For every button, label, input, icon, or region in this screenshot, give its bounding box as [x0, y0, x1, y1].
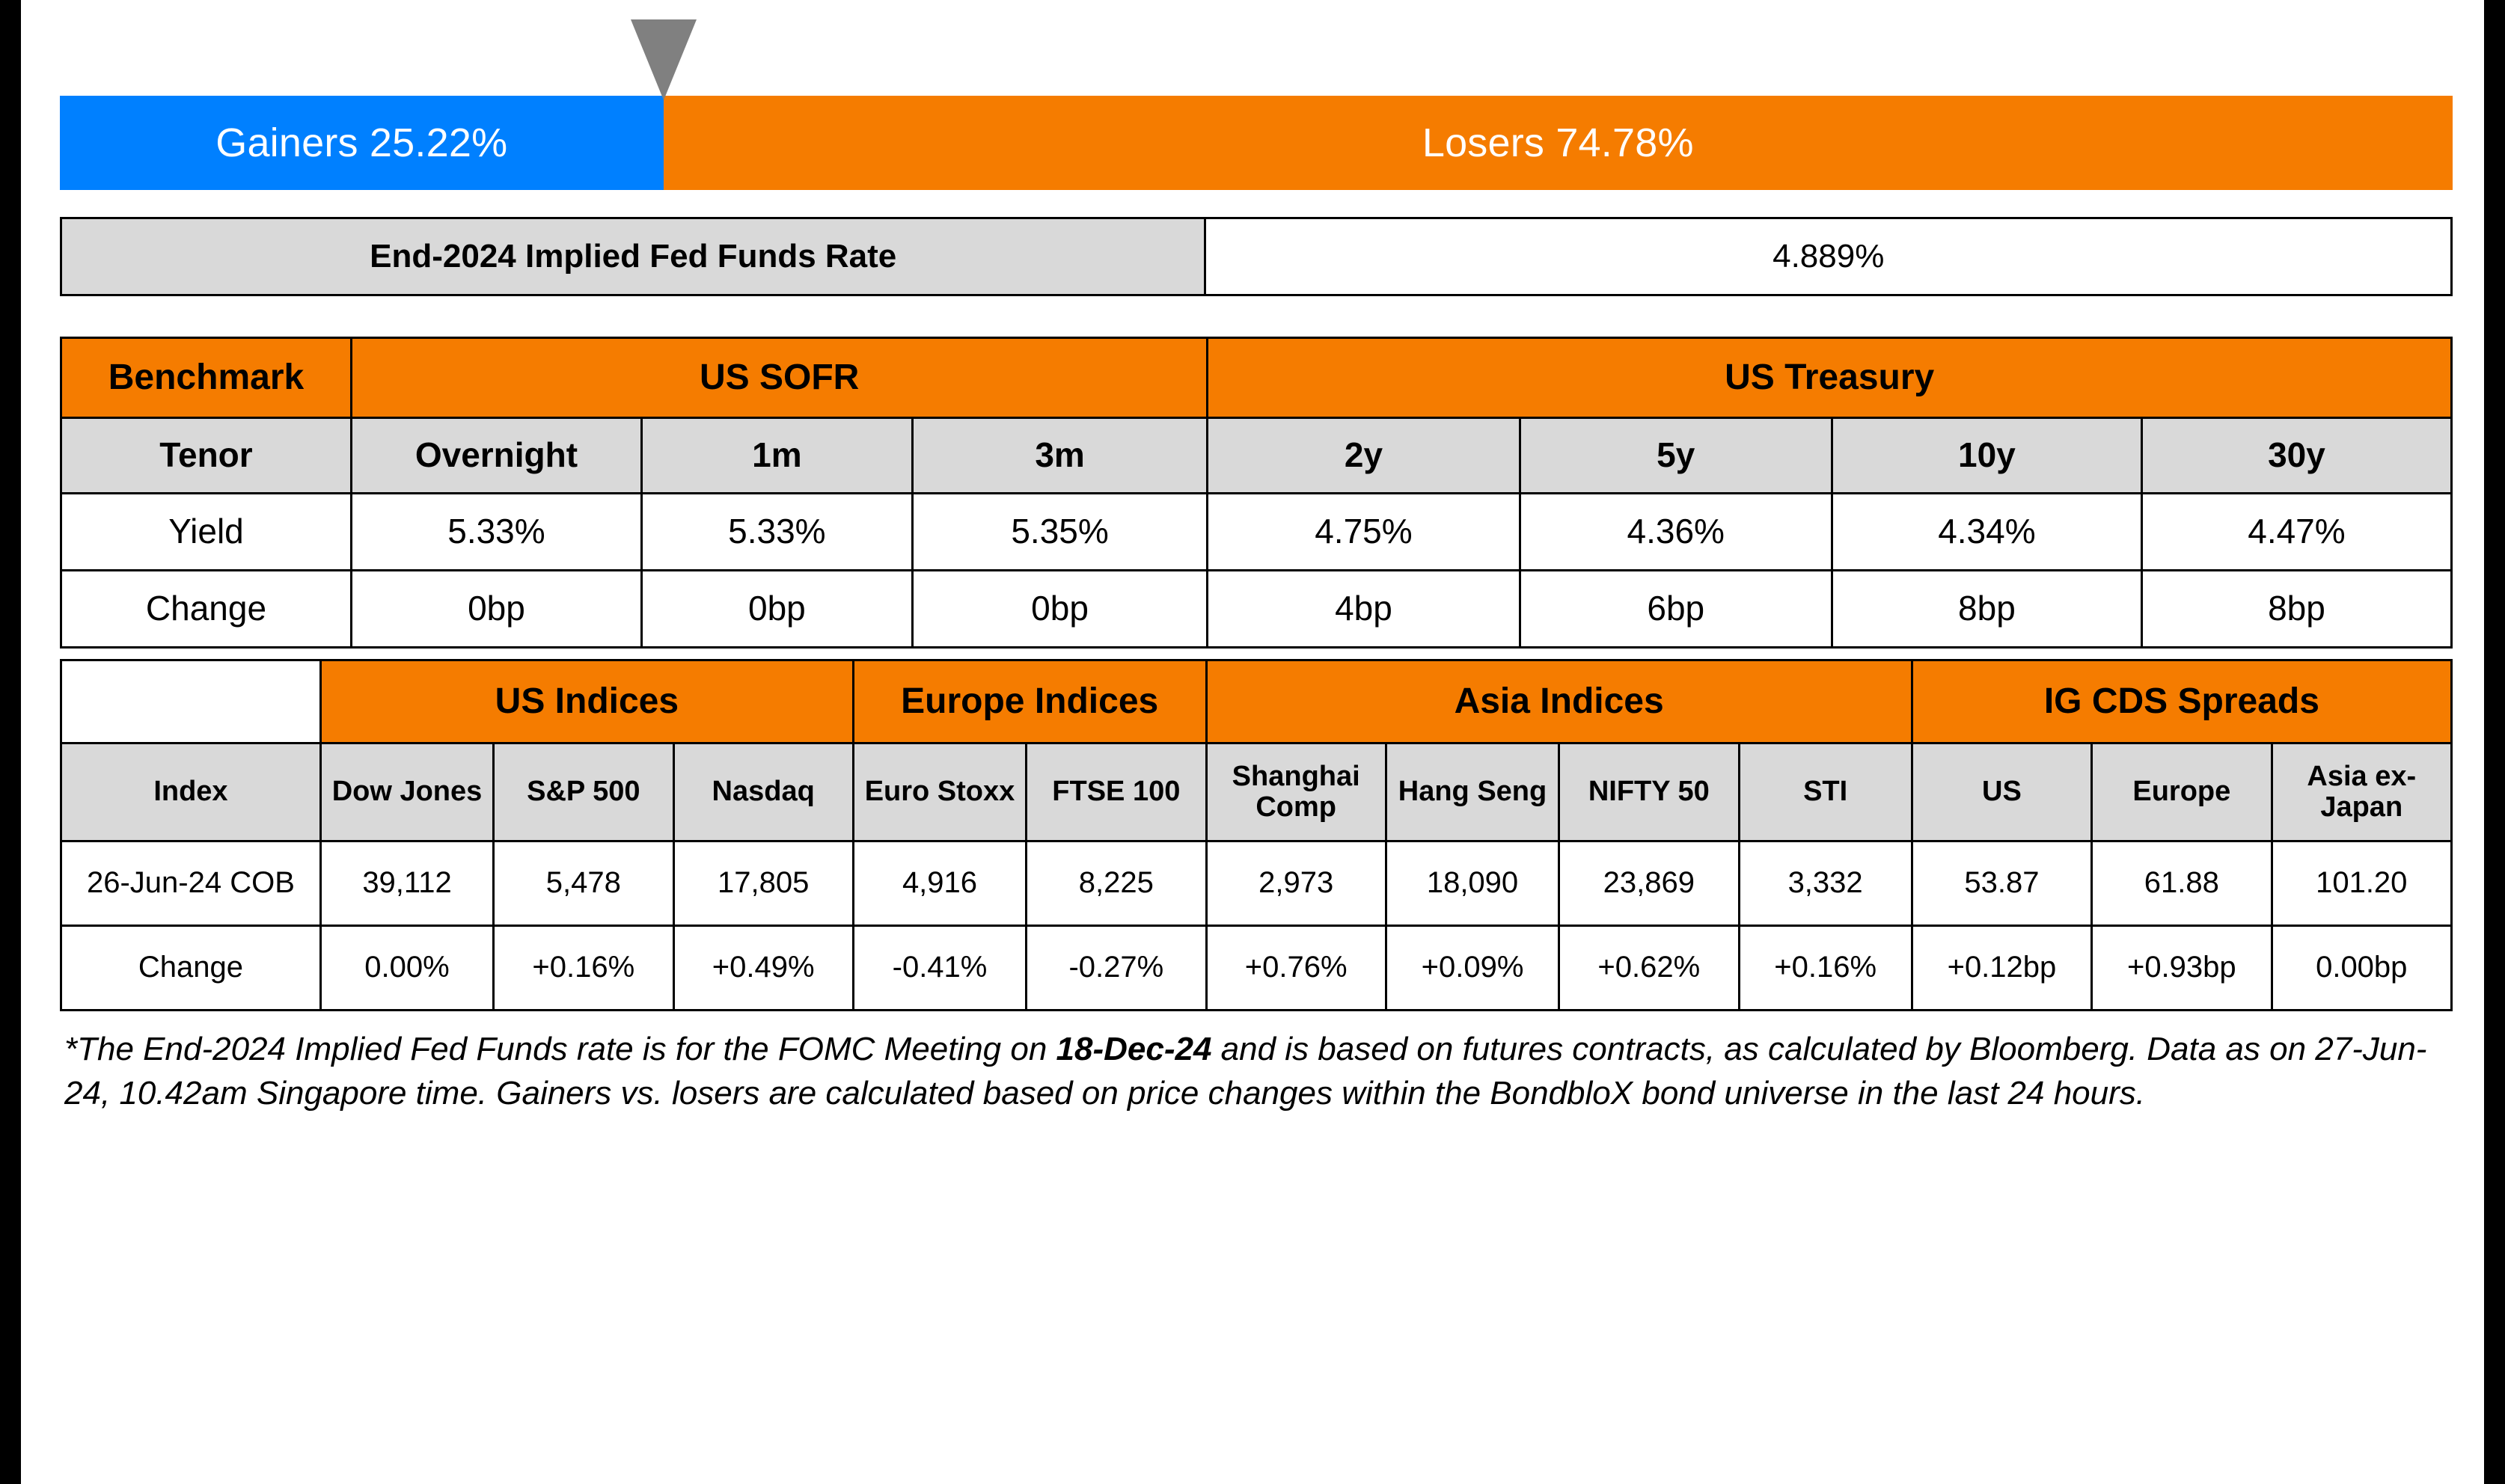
yield-cell: 4.36% — [1520, 494, 1832, 571]
yield-row: Yield 5.33% 5.33% 5.35% 4.75% 4.36% 4.34… — [61, 494, 2452, 571]
cob-value-cell: 39,112 — [320, 841, 493, 926]
index-change-cell: +0.12bp — [1912, 926, 2091, 1011]
left-black-rail — [0, 0, 21, 1484]
group-header-us-indices: US Indices — [320, 660, 853, 743]
column-header: Europe — [2092, 743, 2272, 841]
cob-value-cell: 8,225 — [1027, 841, 1206, 926]
fed-funds-value: 4.889% — [1205, 218, 2452, 295]
cob-value-cell: 23,869 — [1559, 841, 1739, 926]
cob-value-cell: 53.87 — [1912, 841, 2091, 926]
yield-change-cell: 8bp — [2141, 571, 2451, 648]
group-header-us-treasury: US Treasury — [1208, 338, 2452, 418]
group-header-europe-indices: Europe Indices — [853, 660, 1206, 743]
cob-value-cell: 101.20 — [2272, 841, 2452, 926]
index-change-cell: +0.16% — [1739, 926, 1912, 1011]
index-change-cell: +0.16% — [494, 926, 673, 1011]
cob-value-cell: 2,973 — [1206, 841, 1386, 926]
gainers-segment[interactable]: Gainers 25.22% — [60, 96, 664, 190]
yield-change-cell: 0bp — [912, 571, 1207, 648]
losers-segment[interactable]: Losers 74.78% — [664, 96, 2453, 190]
yield-cell: 4.47% — [2141, 494, 2451, 571]
indices-column-header-row: Index Dow Jones S&P 500 Nasdaq Euro Stox… — [61, 743, 2452, 841]
yield-cell: 5.35% — [912, 494, 1207, 571]
indices-table: US Indices Europe Indices Asia Indices I… — [60, 659, 2453, 1011]
column-header: STI — [1739, 743, 1912, 841]
row-label-index: Index — [61, 743, 321, 841]
row-label-tenor: Tenor — [61, 418, 352, 494]
index-change-cell: +0.62% — [1559, 926, 1739, 1011]
tenor-cell: 2y — [1208, 418, 1520, 494]
group-header-ig-cds-spreads: IG CDS Spreads — [1912, 660, 2451, 743]
yield-cell: 4.75% — [1208, 494, 1520, 571]
footnote-bold-date: 18-Dec-24 — [1056, 1031, 1212, 1067]
cob-value-cell: 18,090 — [1386, 841, 1559, 926]
tenor-cell: Overnight — [351, 418, 641, 494]
cob-value-cell: 17,805 — [673, 841, 853, 926]
down-triangle-marker-icon — [631, 19, 697, 100]
indices-change-row: Change 0.00% +0.16% +0.49% -0.41% -0.27%… — [61, 926, 2452, 1011]
cob-value-cell: 3,332 — [1739, 841, 1912, 926]
yield-cell: 4.34% — [1832, 494, 2141, 571]
footnote-part-1: *The End-2024 Implied Fed Funds rate is … — [64, 1031, 1056, 1067]
yield-change-cell: 0bp — [351, 571, 641, 648]
group-header-benchmark: Benchmark — [61, 338, 352, 418]
benchmark-table: Benchmark US SOFR US Treasury Tenor Over… — [60, 337, 2453, 649]
group-header-asia-indices: Asia Indices — [1206, 660, 1912, 743]
index-change-cell: -0.27% — [1027, 926, 1206, 1011]
index-change-cell: +0.93bp — [2092, 926, 2272, 1011]
yield-cell: 5.33% — [641, 494, 912, 571]
row-label-cob: 26-Jun-24 COB — [61, 841, 321, 926]
indices-group-header-row: US Indices Europe Indices Asia Indices I… — [61, 660, 2452, 743]
yield-cell: 5.33% — [351, 494, 641, 571]
fed-funds-table: End-2024 Implied Fed Funds Rate 4.889% — [60, 217, 2453, 296]
index-change-cell: 0.00% — [320, 926, 493, 1011]
column-header: NIFTY 50 — [1559, 743, 1739, 841]
column-header: Dow Jones — [320, 743, 493, 841]
index-change-cell: +0.49% — [673, 926, 853, 1011]
benchmark-group-header-row: Benchmark US SOFR US Treasury — [61, 338, 2452, 418]
yield-change-cell: 8bp — [1832, 571, 2141, 648]
row-label-yield: Yield — [61, 494, 352, 571]
tenor-cell: 30y — [2141, 418, 2451, 494]
cob-value-cell: 5,478 — [494, 841, 673, 926]
yield-change-cell: 6bp — [1520, 571, 1832, 648]
row-label-change: Change — [61, 571, 352, 648]
cob-value-cell: 4,916 — [853, 841, 1026, 926]
tenor-cell: 1m — [641, 418, 912, 494]
column-header: Asia ex-Japan — [2272, 743, 2452, 841]
tenor-row: Tenor Overnight 1m 3m 2y 5y 10y 30y — [61, 418, 2452, 494]
group-header-us-sofr: US SOFR — [351, 338, 1207, 418]
tenor-cell: 10y — [1832, 418, 2141, 494]
column-header: Euro Stoxx — [853, 743, 1026, 841]
tenor-cell: 3m — [912, 418, 1207, 494]
indices-cob-row: 26-Jun-24 COB 39,112 5,478 17,805 4,916 … — [61, 841, 2452, 926]
cob-value-cell: 61.88 — [2092, 841, 2272, 926]
fed-funds-row: End-2024 Implied Fed Funds Rate 4.889% — [61, 218, 2452, 295]
right-black-rail — [2484, 0, 2505, 1484]
column-header: S&P 500 — [494, 743, 673, 841]
fed-funds-label: End-2024 Implied Fed Funds Rate — [61, 218, 1205, 295]
gainers-losers-bar: Gainers 25.22% Losers 74.78% — [60, 96, 2453, 190]
index-change-cell: -0.41% — [853, 926, 1026, 1011]
sentiment-marker-row — [60, 0, 2453, 96]
footnote: *The End-2024 Implied Fed Funds rate is … — [64, 1028, 2436, 1115]
index-change-cell: +0.09% — [1386, 926, 1559, 1011]
index-change-cell: 0.00bp — [2272, 926, 2452, 1011]
indices-corner-cell — [61, 660, 321, 743]
column-header: US — [1912, 743, 2091, 841]
row-label-change: Change — [61, 926, 321, 1011]
yield-change-cell: 4bp — [1208, 571, 1520, 648]
index-change-cell: +0.76% — [1206, 926, 1386, 1011]
column-header: FTSE 100 — [1027, 743, 1206, 841]
column-header: Nasdaq — [673, 743, 853, 841]
column-header: Hang Seng — [1386, 743, 1559, 841]
column-header: Shanghai Comp — [1206, 743, 1386, 841]
tenor-cell: 5y — [1520, 418, 1832, 494]
slide-canvas: Gainers 25.22% Losers 74.78% End-2024 Im… — [21, 0, 2484, 1484]
yield-change-row: Change 0bp 0bp 0bp 4bp 6bp 8bp 8bp — [61, 571, 2452, 648]
yield-change-cell: 0bp — [641, 571, 912, 648]
